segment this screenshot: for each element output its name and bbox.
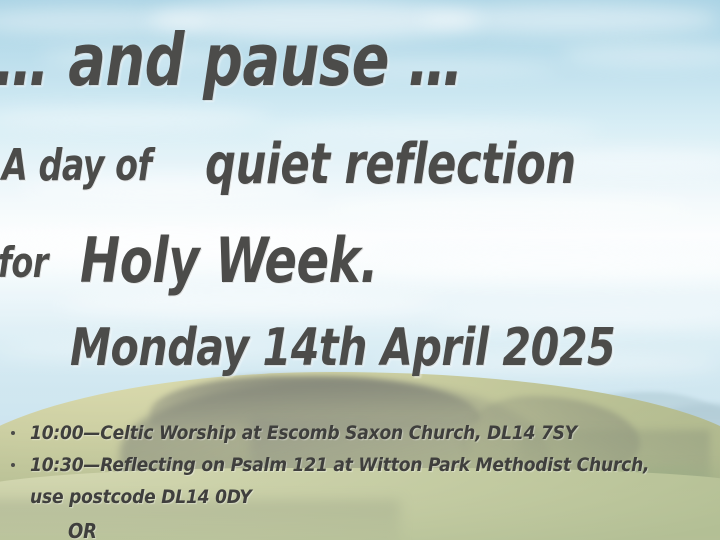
headline-tertiary-prefix: for	[0, 238, 48, 287]
headline-secondary-prefix: A day of	[2, 140, 152, 191]
bullet-dot-icon	[11, 463, 15, 467]
bullet-dot-icon	[11, 431, 15, 435]
list-item-label: 10:00—Celtic Worship at Escomb Saxon Chu…	[30, 420, 718, 446]
list-item-continuation-label: use postcode DL14 0DY	[30, 484, 718, 510]
headline-primary: … and pause …	[0, 18, 463, 102]
list-item-label: 10:30—Reflecting on Psalm 121 at Witton …	[30, 452, 718, 478]
presentation-slide: … and pause … A day of quiet reflection …	[0, 0, 720, 540]
list-item-continuation: use postcode DL14 0DY	[8, 484, 718, 510]
trailing-clipped-label: OR	[68, 518, 718, 540]
trailing-clipped-text: OR	[8, 518, 718, 540]
event-date: Monday 14th April 2025	[70, 318, 615, 378]
headline-secondary-emphasis: quiet reflection	[205, 132, 576, 197]
list-item: 10:30—Reflecting on Psalm 121 at Witton …	[8, 452, 718, 478]
headline-tertiary-emphasis: Holy Week.	[80, 224, 378, 297]
list-item: 10:00—Celtic Worship at Escomb Saxon Chu…	[8, 420, 718, 446]
slide-text-layer: … and pause … A day of quiet reflection …	[0, 0, 720, 540]
schedule-list: 10:00—Celtic Worship at Escomb Saxon Chu…	[8, 420, 718, 540]
